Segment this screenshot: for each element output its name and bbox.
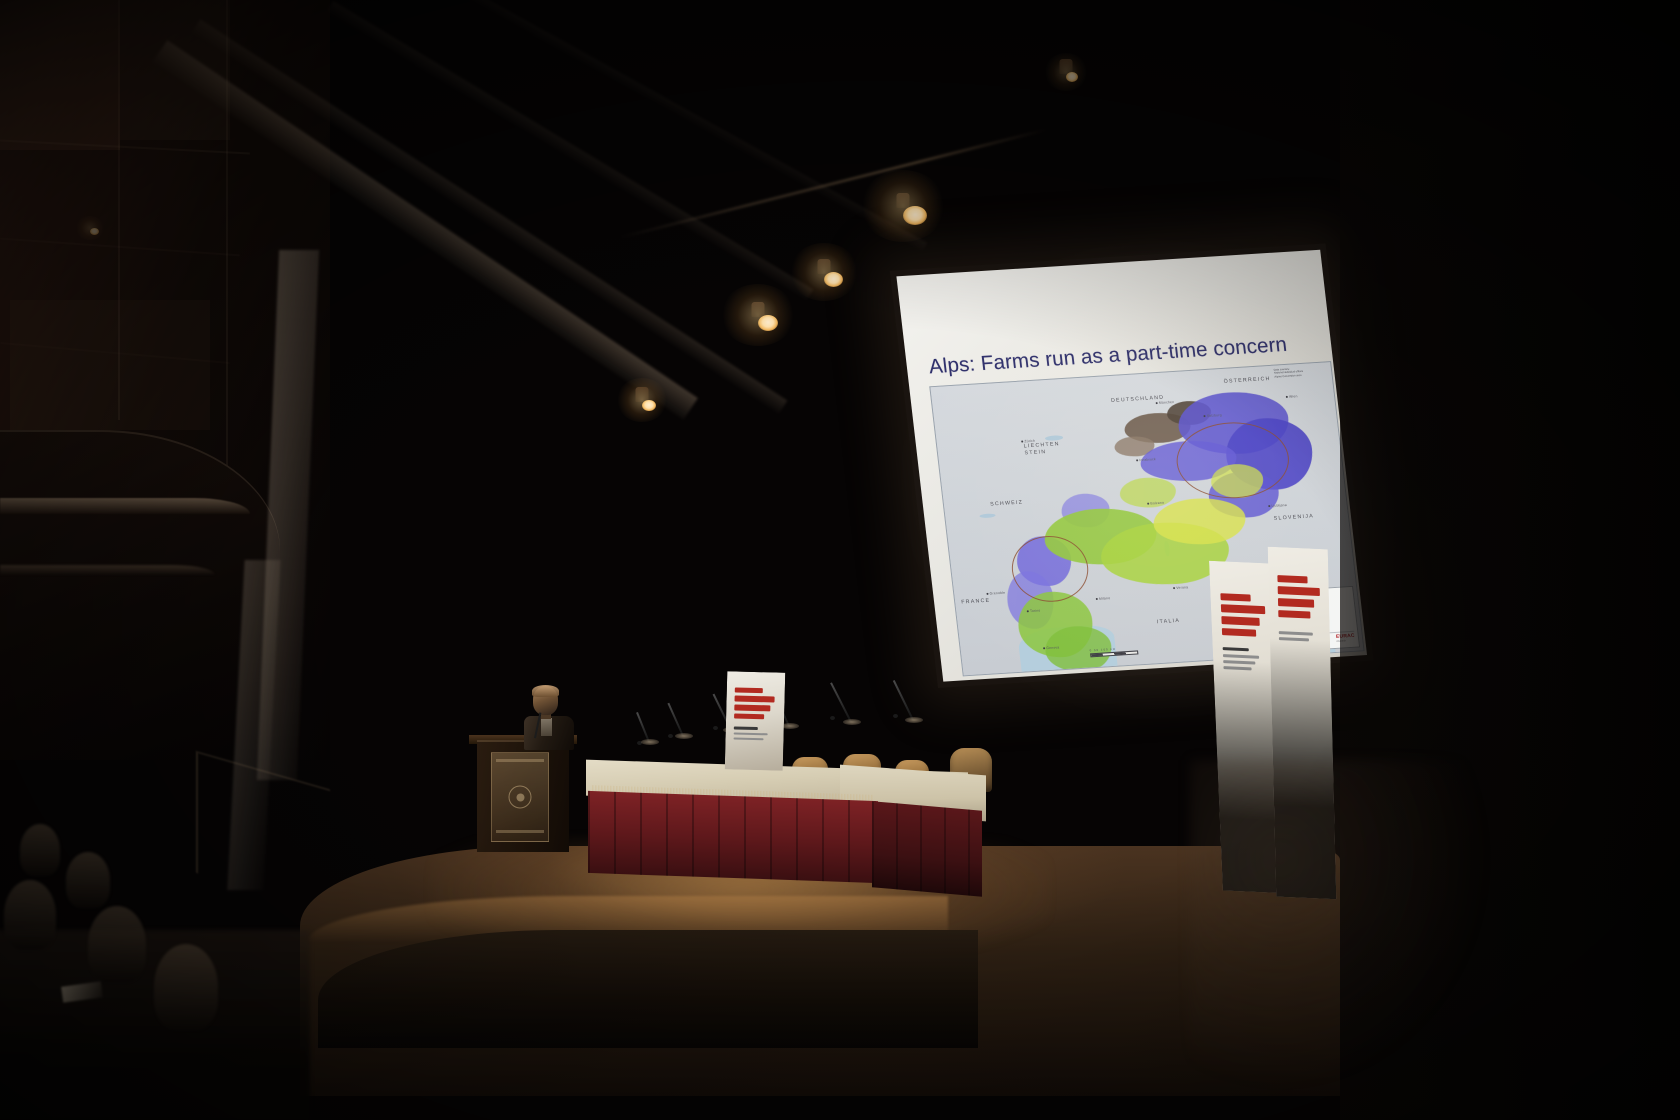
right-wall-texture [1190, 760, 1490, 1090]
audience-block [0, 930, 310, 1120]
lighting-truss [620, 128, 1047, 239]
audience-head-2 [66, 852, 110, 908]
map-city-torino: Torino [1027, 609, 1041, 614]
speaker-figure [524, 686, 580, 748]
balcony-rail-upper [0, 498, 250, 514]
head-table-skirt-right [872, 801, 982, 897]
balcony-rail-lower [0, 565, 215, 575]
speaker-shirt [541, 718, 552, 736]
audience-head-3 [4, 880, 56, 950]
speaker-hair [532, 685, 559, 697]
map-city-wien: Wien [1286, 394, 1298, 399]
audience-head-1 [20, 824, 60, 876]
banner-center [725, 671, 786, 770]
audience-head-5 [154, 944, 218, 1030]
head-table-skirt [588, 791, 878, 883]
audience-head-4 [88, 906, 146, 982]
stair-rail [196, 751, 330, 911]
lectern-crest-panel [491, 752, 549, 842]
map-label-liechtenstein: LIECHTENSTEIN [1023, 441, 1061, 456]
conference-hall-scene: Alps: Farms run as a part-time concern [0, 0, 1680, 1120]
stage-apron [318, 930, 978, 1048]
